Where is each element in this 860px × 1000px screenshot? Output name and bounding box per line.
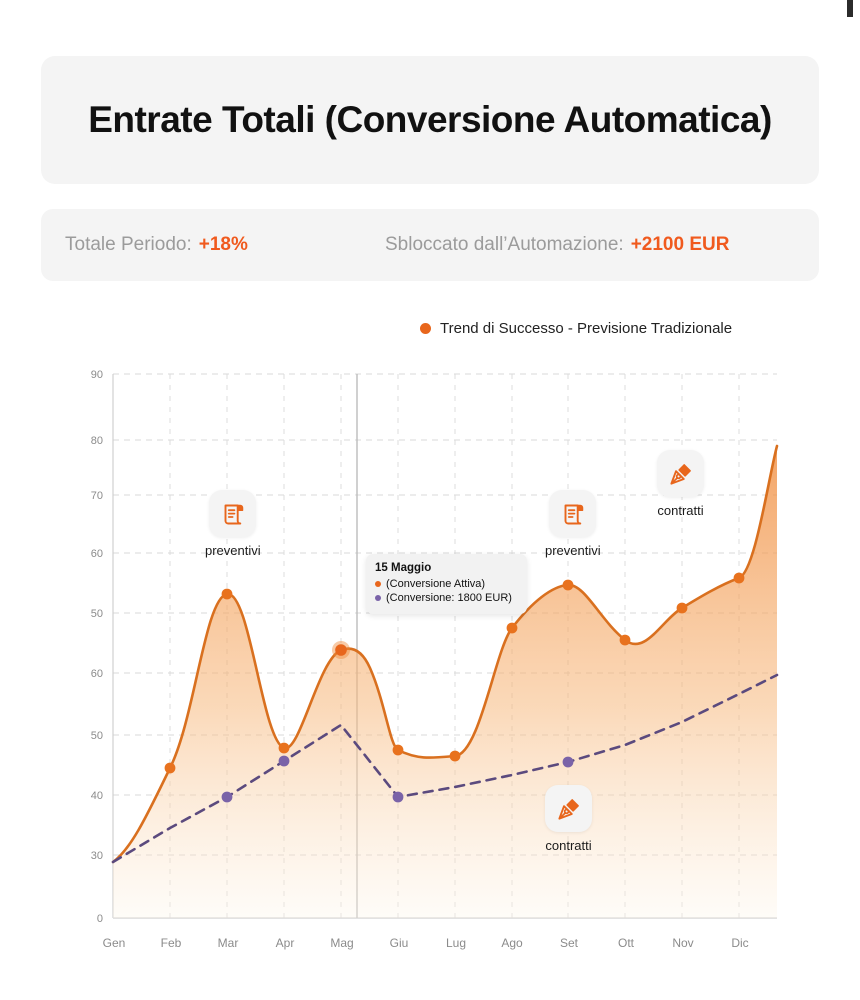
stat-automation-unlocked-value: +2100 EUR: [631, 234, 730, 256]
y-tick-label: 50: [91, 608, 103, 620]
highlight-point-maggio[interactable]: [335, 644, 347, 656]
tooltip-dot-icon-purple: [375, 595, 381, 601]
y-tick-label: 60: [91, 548, 103, 560]
badge-container: [549, 490, 596, 537]
annotation-label: contratti: [545, 838, 591, 853]
y-tick-label: 30: [91, 850, 103, 862]
revenue-area-chart[interactable]: 90 80 70 60 50 60 50 40 30 0 Gen Feb Mar…: [0, 350, 860, 970]
annotation-preventivi-2[interactable]: preventivi: [545, 490, 601, 558]
x-tick-label: Nov: [672, 936, 693, 950]
badge-container: [545, 785, 592, 832]
legend-dot-icon: [420, 323, 431, 334]
stat-automation-unlocked-label: Sbloccato dall’Automazione:: [385, 234, 624, 256]
tooltip-dot-icon-orange: [375, 581, 381, 587]
x-tick-label: Gen: [103, 936, 126, 950]
x-tick-label: Mag: [330, 936, 353, 950]
x-tick-label: Feb: [161, 936, 182, 950]
x-tick-label: Dic: [731, 936, 748, 950]
tooltip-row-text: (Conversione: 1800 EUR): [386, 591, 512, 605]
badge-container: [657, 450, 704, 497]
stats-bar: Totale Periodo: +18% Sbloccato dall’Auto…: [41, 209, 819, 281]
y-tick-label: 70: [91, 490, 103, 502]
badge-container: [209, 490, 256, 537]
tooltip-row-text: (Conversione Attiva): [386, 577, 485, 591]
x-tick-label: Set: [560, 936, 579, 950]
y-tick-label: 90: [91, 369, 103, 381]
y-axis-ticks: 90 80 70 60 50 60 50 40 30 0: [91, 369, 103, 925]
signature-pen-icon: [667, 460, 695, 488]
stat-automation-unlocked: Sbloccato dall’Automazione: +2100 EUR: [385, 209, 729, 281]
x-tick-label: Mar: [218, 936, 239, 950]
tooltip-row-active: (Conversione Attiva): [375, 577, 518, 591]
signature-pen-icon: [555, 795, 583, 823]
annotation-label: contratti: [657, 503, 703, 518]
stat-total-period-value: +18%: [199, 234, 248, 256]
chart-container[interactable]: 90 80 70 60 50 60 50 40 30 0 Gen Feb Mar…: [0, 350, 860, 970]
screen-edge-artifact: [847, 0, 853, 17]
chart-legend: Trend di Successo - Previsione Tradizion…: [420, 318, 732, 338]
x-tick-label: Giu: [390, 936, 409, 950]
x-tick-label: Apr: [276, 936, 295, 950]
tooltip-title: 15 Maggio: [375, 562, 518, 574]
x-tick-label: Ott: [618, 936, 635, 950]
scroll-document-icon: [559, 500, 587, 528]
x-tick-label: Lug: [446, 936, 466, 950]
x-axis-ticks: Gen Feb Mar Apr Mag Giu Lug Ago Set Ott …: [103, 936, 749, 950]
chart-tooltip: 15 Maggio (Conversione Attiva) (Conversi…: [366, 554, 527, 614]
scroll-document-icon: [219, 500, 247, 528]
y-tick-label: 40: [91, 790, 103, 802]
y-tick-label: 50: [91, 730, 103, 742]
legend-item-label: Trend di Successo - Previsione Tradizion…: [440, 320, 732, 337]
page-title: Entrate Totali (Conversione Automatica): [88, 99, 772, 141]
annotation-contratti-1[interactable]: contratti: [657, 450, 704, 518]
annotation-preventivi-1[interactable]: preventivi: [205, 490, 261, 558]
stat-total-period-label: Totale Periodo:: [65, 234, 192, 256]
title-card: Entrate Totali (Conversione Automatica): [41, 56, 819, 184]
y-tick-label: 80: [91, 435, 103, 447]
stat-total-period: Totale Periodo: +18%: [65, 209, 248, 281]
annotation-contratti-2[interactable]: contratti: [545, 785, 592, 853]
tooltip-row-conversion: (Conversione: 1800 EUR): [375, 591, 518, 605]
y-tick-label: 0: [97, 913, 103, 925]
x-tick-label: Ago: [501, 936, 523, 950]
annotation-label: preventivi: [545, 543, 601, 558]
annotation-label: preventivi: [205, 543, 261, 558]
y-tick-label: 60: [91, 668, 103, 680]
